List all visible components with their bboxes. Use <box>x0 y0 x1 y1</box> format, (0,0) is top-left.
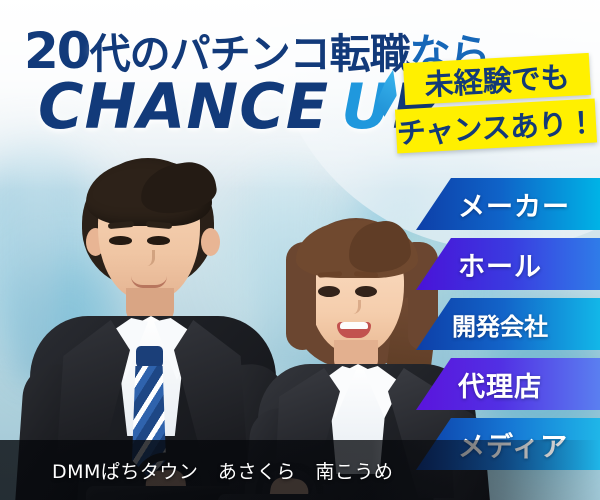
woman-eye-right <box>355 286 377 297</box>
caption-bar: DMMぱちタウン あさくら 南こうめ <box>0 440 600 500</box>
promo-badge-line-2: チャンスあり！ <box>395 98 597 153</box>
man-ear-right <box>201 228 220 256</box>
man-necktie-knot <box>136 346 163 369</box>
category-tag-agency-label: 代理店 <box>458 365 542 404</box>
promo-badge: 未経験でも チャンスあり！ <box>396 56 600 162</box>
category-tag-list: メーカー ホール 開発会社 代理店 メディア <box>416 178 600 478</box>
category-tag-hall[interactable]: ホール <box>416 238 600 290</box>
category-tag-developer[interactable]: 開発会社 <box>416 298 600 350</box>
caption-text: DMMぱちタウン あさくら 南こうめ <box>52 457 393 484</box>
advertisement-banner[interactable]: 20代のパチンコ転職なら CHANCEUP 未経験でも チャンスあり！ メーカー… <box>0 0 600 500</box>
promo-badge-line-1: 未経験でも <box>403 53 591 105</box>
woman-teeth <box>340 322 368 329</box>
man-eye-left <box>109 236 132 245</box>
category-tag-developer-label: 開発会社 <box>452 307 548 342</box>
category-tag-hall-label: ホール <box>458 245 542 284</box>
man-eye-right <box>147 236 170 245</box>
category-tag-maker-label: メーカー <box>458 185 570 224</box>
category-tag-maker[interactable]: メーカー <box>416 178 600 230</box>
category-tag-agency[interactable]: 代理店 <box>416 358 600 410</box>
woman-eye-left <box>318 286 340 297</box>
